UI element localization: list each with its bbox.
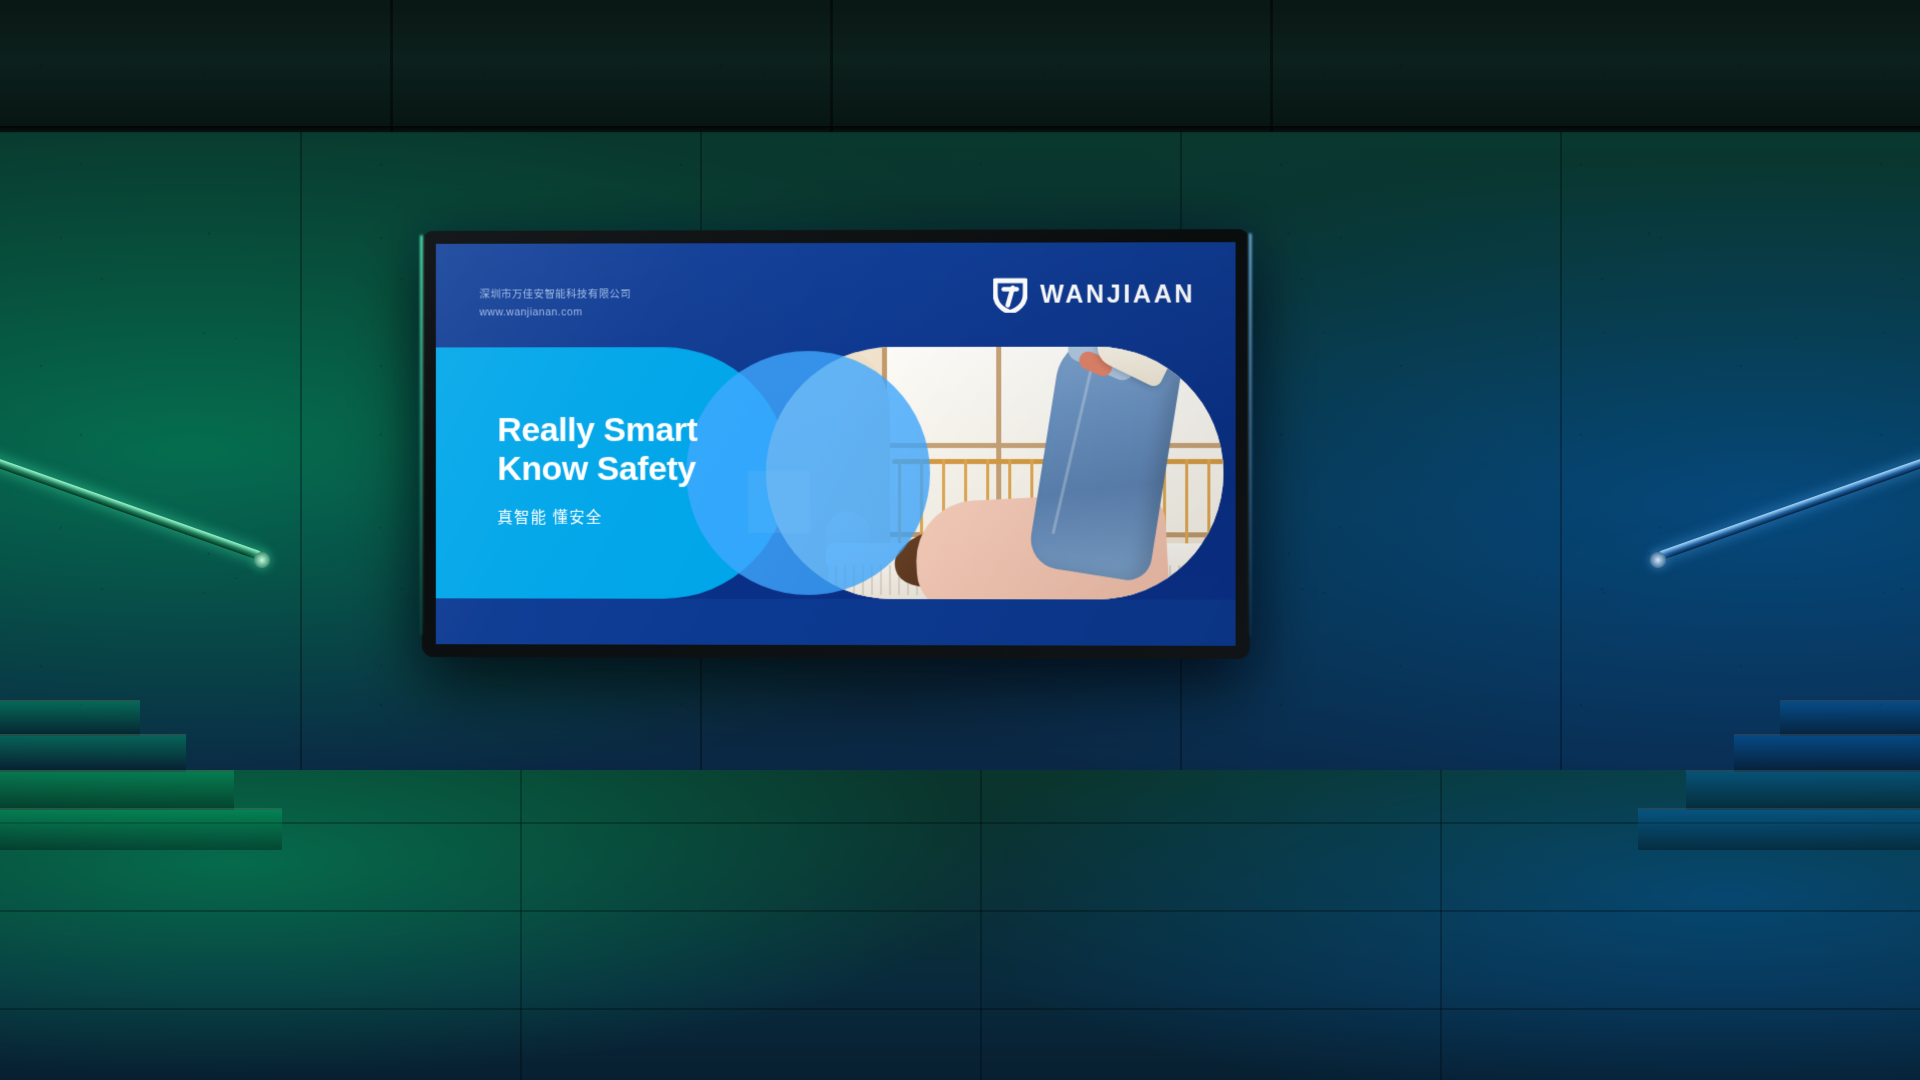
handrail-left — [0, 452, 280, 568]
stair-step — [0, 770, 234, 810]
corporate-info: 深圳市万佳安智能科技有限公司 www.wanjianan.com — [479, 285, 631, 322]
stair-step — [1734, 734, 1920, 772]
handrail-bar — [1657, 452, 1920, 561]
handrail-mount — [254, 552, 270, 568]
stair-step — [1780, 700, 1920, 736]
scene-root: 深圳市万佳安智能科技有限公司 www.wanjianan.com WANJIAA… — [0, 0, 1920, 1080]
floor-tile-line — [980, 770, 982, 1080]
brand-wordmark: WANJIAAN — [1040, 280, 1195, 309]
floor-tile-line — [1440, 770, 1442, 1080]
floor-tile-line — [520, 770, 522, 1080]
billboard[interactable]: 深圳市万佳安智能科技有限公司 www.wanjianan.com WANJIAA… — [422, 229, 1250, 659]
display-screen[interactable]: 深圳市万佳安智能科技有限公司 www.wanjianan.com WANJIAA… — [436, 242, 1236, 646]
handrail-right — [1640, 452, 1920, 568]
stairs-right — [1630, 700, 1920, 1080]
subline-text: 真智能 懂安全 — [497, 505, 796, 527]
stairs-left — [0, 700, 290, 1080]
stair-step — [0, 734, 186, 772]
brand-logo[interactable]: WANJIAAN — [993, 276, 1195, 312]
company-name-cn: 深圳市万佳安智能科技有限公司 — [479, 285, 631, 304]
shield-icon — [993, 277, 1027, 313]
headline-text: Really Smart Know Safety — [497, 411, 796, 488]
handrail-bar — [0, 452, 263, 561]
message-copy: Really Smart Know Safety 真智能 懂安全 — [497, 411, 796, 527]
stair-step — [1686, 770, 1920, 810]
stair-step — [1638, 808, 1920, 850]
bottom-blue-band — [436, 598, 1236, 646]
company-website: www.wanjianan.com — [479, 304, 631, 323]
stair-step — [0, 808, 282, 850]
stair-step — [0, 700, 140, 736]
handrail-mount — [1650, 552, 1666, 568]
